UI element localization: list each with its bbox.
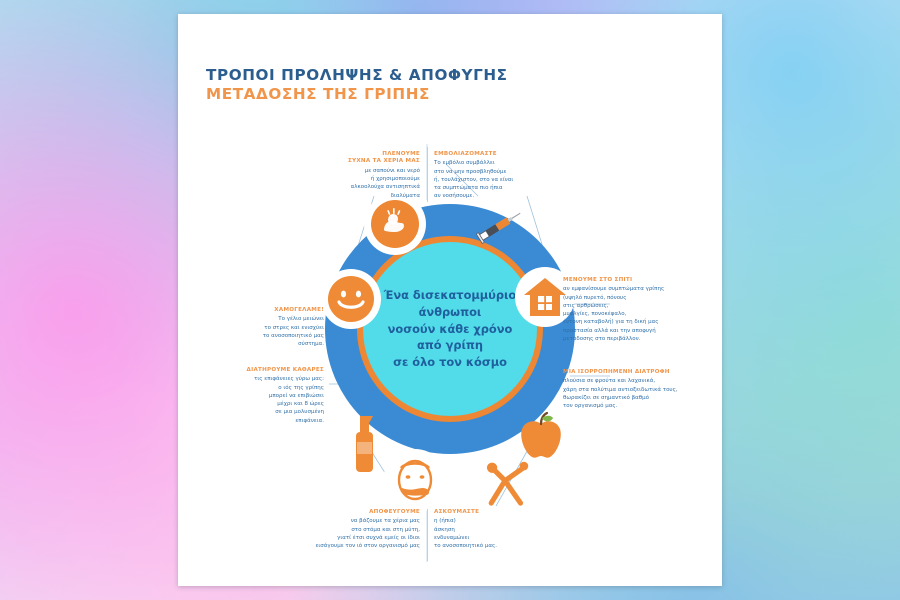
syringe-icon <box>471 200 525 254</box>
tip-stay-home-line-4: μυαλγίες, πονοκέφαλο, <box>563 310 713 318</box>
tip-avoid-touching-face-heading: ΑΠΟΦΕΥΓΟΥΜΕ <box>284 508 420 516</box>
exercise-figure-icon <box>474 454 536 516</box>
center-line-1: Ένα δισεκατομμύριο <box>384 287 517 304</box>
tip-vaccination-line-4: τα συμπτώματα πιο ήπια <box>434 184 566 192</box>
tip-smile-line-3: το ανοσοποιητικό μας <box>196 332 324 340</box>
tip-exercise-line-4: το ανοσοποιητικό μας. <box>434 542 564 550</box>
tip-handwashing-line-1: με σαπούνι και νερό <box>296 167 420 175</box>
tip-clean-surfaces-line-6: επιφάνεια. <box>190 417 324 425</box>
center-line-5: σε όλο τον κόσμο <box>384 354 517 371</box>
tip-stay-home-line-2: (υψηλό πυρετό, πόνους <box>563 294 713 302</box>
tip-stay-home-line-6: προστασία αλλά και την αποφυγή <box>563 327 713 335</box>
tip-vaccination: ΕΜΒΟΛΙΑΖΟΜΑΣΤΕ Το εμβόλιο συμβάλλει στο … <box>434 150 566 201</box>
tip-smile-heading: ΧΑΜΟΓΕΛΑΜΕ! <box>196 306 324 314</box>
tip-balanced-diet-line-4: τον οργανισμό μας. <box>563 402 715 410</box>
tip-exercise-heading: ΑΣΚΟΥΜΑΣΤΕ <box>434 508 564 516</box>
tip-clean-surfaces-line-3: μπορεί να επιβιώσει <box>190 392 324 400</box>
tip-handwashing-line-2: ή χρησιμοποιούμε <box>296 175 420 183</box>
tip-balanced-diet-line-3: θωρακίζει σε σημαντικό βαθμό <box>563 394 715 402</box>
tip-clean-surfaces-line-5: σε μια μολυσμένη <box>190 408 324 416</box>
tip-avoid-touching-face-line-1: να βάζουμε τα χέρια μας <box>284 517 420 525</box>
center-line-4: από γρίπη <box>384 337 517 354</box>
tip-handwashing-heading-2: ΣΥΧΝΑ ΤΑ ΧΕΡΙΑ ΜΑΣ <box>296 157 420 165</box>
hand-over-mouth-icon <box>386 452 444 510</box>
spray-bottle-icon <box>338 412 390 476</box>
tip-balanced-diet-heading: ΜΙΑ ΙΣΟΡΡΟΠΗΜΕΝΗ ΔΙΑΤΡΟΦΗ <box>563 368 715 376</box>
tip-vaccination-line-2: στο να μην προσβληθούμε <box>434 168 566 176</box>
tip-vaccination-line-3: ή, τουλάχιστον, στο να είναι <box>434 176 566 184</box>
tip-balanced-diet: ΜΙΑ ΙΣΟΡΡΟΠΗΜΕΝΗ ΔΙΑΤΡΟΦΗ πλούσια σε φρο… <box>563 368 715 410</box>
tip-stay-home: ΜΕΝΟΥΜΕ ΣΤΟ ΣΠΙΤΙ αν εμφανίσουμε συμπτώμ… <box>563 276 713 343</box>
tip-smile-line-2: το στρες και ενισχύει <box>196 324 324 332</box>
infographic-poster: ΤΡΟΠΟΙ ΠΡΟΛΗΨΗΣ & ΑΠΟΦΥΓΗΣ ΜΕΤΑΔΟΣΗΣ ΤΗΣ… <box>178 14 722 586</box>
tip-avoid-touching-face-line-2: στο στόμα και στη μύτη, <box>284 526 420 534</box>
smiley-face-icon <box>324 272 378 326</box>
tip-stay-home-heading: ΜΕΝΟΥΜΕ ΣΤΟ ΣΠΙΤΙ <box>563 276 713 284</box>
tip-handwashing-line-4: διαλύματα <box>296 192 420 200</box>
tip-vaccination-line-5: αν νοσήσουμε. <box>434 192 566 200</box>
tip-stay-home-line-3: στις αρθρώσεις, <box>563 302 713 310</box>
washing-hands-icon <box>367 196 423 252</box>
tip-clean-surfaces-line-2: ο ιός της γρίπης <box>190 384 324 392</box>
tip-balanced-diet-line-2: χάρη στα πολύτιμα αντιοξειδωτικά τους, <box>563 386 715 394</box>
tip-balanced-diet-line-1: πλούσια σε φρούτα και λαχανικά, <box>563 377 715 385</box>
tip-stay-home-line-5: έντονη καταβολή) για τη δική μας <box>563 318 713 326</box>
tip-exercise-line-3: ενδυναμώνει <box>434 534 564 542</box>
tip-clean-surfaces-line-4: μέχρι και 8 ώρες <box>190 400 324 408</box>
tip-vaccination-heading: ΕΜΒΟΛΙΑΖΟΜΑΣΤΕ <box>434 150 566 158</box>
tip-exercise: ΑΣΚΟΥΜΑΣΤΕ η (ήπια) άσκηση ενδυναμώνει τ… <box>434 508 564 550</box>
tip-smile-line-4: σύστημα. <box>196 340 324 348</box>
tip-smile: ΧΑΜΟΓΕΛΑΜΕ! Το γέλιο μειώνει το στρες κα… <box>196 306 324 348</box>
divider-top <box>427 147 428 202</box>
divider-bottom <box>427 509 428 561</box>
tip-avoid-touching-face: ΑΠΟΦΕΥΓΟΥΜΕ να βάζουμε τα χέρια μας στο … <box>284 508 420 550</box>
tip-stay-home-line-1: αν εμφανίσουμε συμπτώματα γρίπης <box>563 285 713 293</box>
tip-avoid-touching-face-line-3: γιατί έτσι συχνά εμείς οι ίδιοι <box>284 534 420 542</box>
center-line-3: νοσούν κάθε χρόνο <box>384 321 517 338</box>
tip-exercise-line-2: άσκηση <box>434 526 564 534</box>
tip-clean-surfaces-line-1: τις επιφάνειες γύρω μας: <box>190 375 324 383</box>
tip-vaccination-line-1: Το εμβόλιο συμβάλλει <box>434 159 566 167</box>
tip-clean-surfaces-heading: ΔΙΑΤΗΡΟΥΜΕ ΚΑΘΑΡΕΣ <box>190 366 324 374</box>
center-statistic: Ένα δισεκατομμύριο άνθρωποι νοσούν κάθε … <box>363 242 537 416</box>
tip-exercise-line-1: η (ήπια) <box>434 517 564 525</box>
tip-handwashing-line-3: αλκοολούχα αντισηπτικά <box>296 183 420 191</box>
tip-avoid-touching-face-line-4: εισάγουμε τον ιό στον οργανισμό μας <box>284 542 420 550</box>
tip-clean-surfaces: ΔΙΑΤΗΡΟΥΜΕ ΚΑΘΑΡΕΣ τις επιφάνειες γύρω μ… <box>190 366 324 425</box>
tip-smile-line-1: Το γέλιο μειώνει <box>196 315 324 323</box>
center-line-2: άνθρωποι <box>384 304 517 321</box>
tip-handwashing: ΠΛΕΝΟΥΜΕ ΣΥΧΝΑ ΤΑ ΧΕΡΙΑ ΜΑΣ με σαπούνι κ… <box>296 150 420 200</box>
tip-stay-home-line-7: μετάδοσης στο περιβάλλον. <box>563 335 713 343</box>
